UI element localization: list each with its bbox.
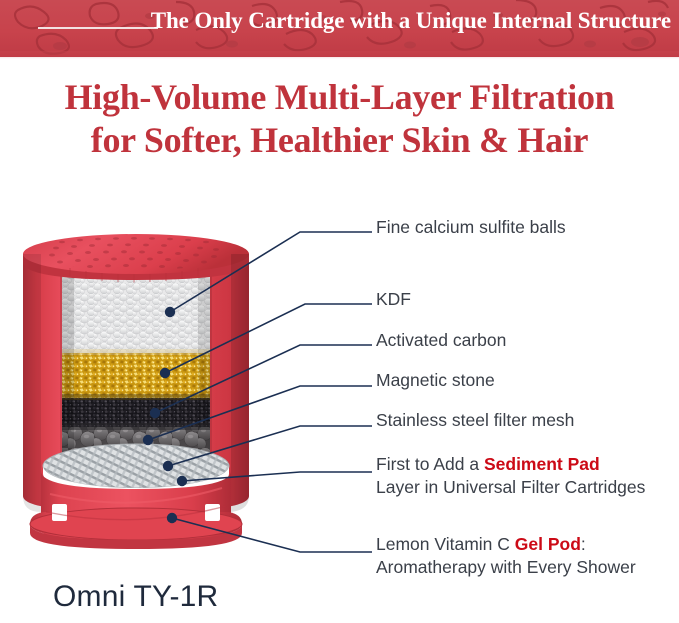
- callout-kdf-label: KDF: [376, 289, 411, 309]
- callout-gelpod-line1-post: :: [581, 534, 586, 554]
- filter-cartridge-diagram: [16, 228, 286, 558]
- product-name: Omni TY-1R: [53, 580, 218, 614]
- callout-magnetic-stone: Magnetic stone: [376, 369, 495, 392]
- cartridge-cap: [23, 234, 249, 283]
- layer-activated-carbon: [62, 398, 210, 427]
- callout-sediment-highlight: Sediment Pad: [484, 454, 600, 474]
- callout-sediment-line1-pre: First to Add a: [376, 454, 484, 474]
- banner-title: The Only Cartridge with a Unique Interna…: [0, 8, 671, 34]
- callout-gelpod-line1-pre: Lemon Vitamin C: [376, 534, 515, 554]
- callout-sediment-line2: Layer in Universal Filter Cartridges: [376, 476, 645, 499]
- callout-gelpod-highlight: Gel Pod: [515, 534, 581, 554]
- callout-gel-pod: Lemon Vitamin C Gel Pod: Aromatherapy wi…: [376, 533, 636, 579]
- base-notch-right: [205, 504, 220, 521]
- callout-magnetic-label: Magnetic stone: [376, 370, 495, 390]
- callout-gelpod-line2: Aromatherapy with Every Shower: [376, 556, 636, 579]
- callout-mesh-label: Stainless steel filter mesh: [376, 410, 574, 430]
- banner-fade: [0, 51, 679, 59]
- callout-activated-carbon: Activated carbon: [376, 329, 506, 352]
- callout-calcium-sulfite: Fine calcium sulfite balls: [376, 216, 566, 239]
- callout-carbon-label: Activated carbon: [376, 330, 506, 350]
- top-banner: The Only Cartridge with a Unique Interna…: [0, 0, 679, 57]
- headline-line-2: for Softer, Healthier Skin & Hair: [0, 119, 679, 162]
- callout-calcium-label: Fine calcium sulfite balls: [376, 217, 566, 237]
- base-notch-left: [52, 504, 67, 521]
- layer-calcium-sulfite: [62, 275, 210, 353]
- callout-kdf: KDF: [376, 288, 411, 311]
- page-title: High-Volume Multi-Layer Filtration for S…: [0, 76, 679, 162]
- layer-kdf: [62, 353, 210, 398]
- callout-stainless-mesh: Stainless steel filter mesh: [376, 409, 574, 432]
- callout-sediment-pad: First to Add a Sediment Pad Layer in Uni…: [376, 453, 645, 499]
- media-layers: [62, 275, 210, 462]
- headline-line-1: High-Volume Multi-Layer Filtration: [65, 77, 615, 117]
